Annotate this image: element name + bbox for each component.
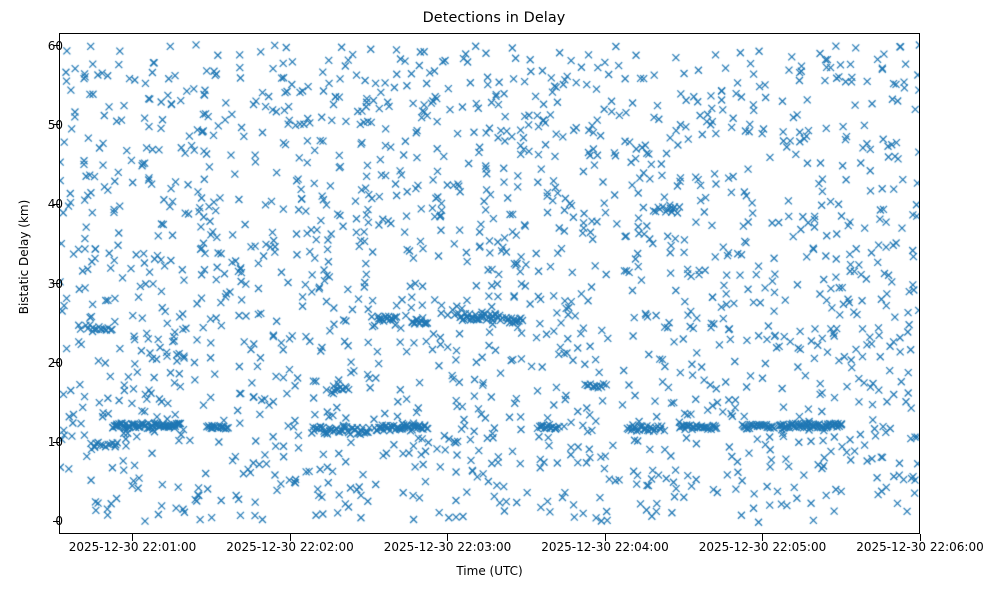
y-tick-label: 30 [0, 278, 63, 290]
y-tick-label: 50 [0, 119, 63, 131]
x-tick-label: 2025-12-30 22:06:00 [810, 540, 988, 554]
scatter-plot-canvas [60, 34, 920, 534]
y-tick-label: 0 [0, 515, 63, 527]
y-axis-label: Bistatic Delay (km) [17, 57, 31, 457]
page-title: Detections in Delay [0, 10, 988, 26]
y-tick-label: 10 [0, 436, 63, 448]
y-tick-label: 60 [0, 40, 63, 52]
figure-canvas: Detections in Delay 0102030405060 2025-1… [0, 0, 988, 590]
y-tick-label: 40 [0, 198, 63, 210]
y-tick-label: 20 [0, 357, 63, 369]
plot-axes [59, 33, 920, 534]
x-axis-label: Time (UTC) [59, 564, 920, 578]
